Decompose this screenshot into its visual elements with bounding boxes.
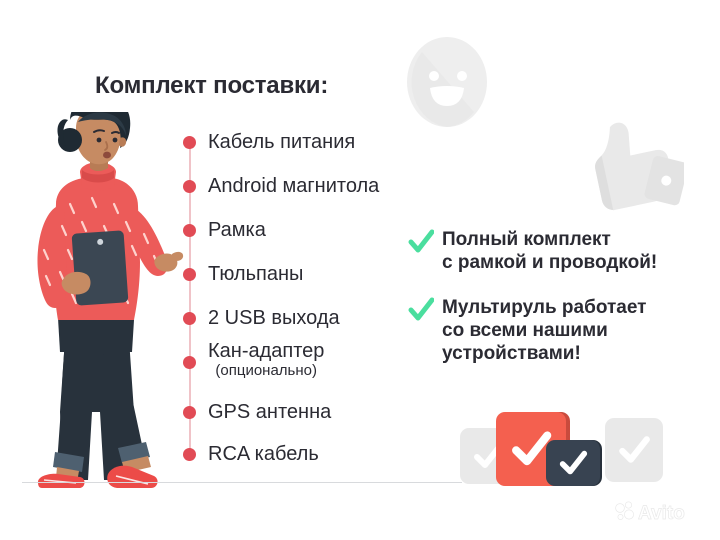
list-item-label: Тюльпаны	[208, 263, 303, 286]
list-item-label: Рамка	[208, 219, 266, 242]
list-item-label: Android магнитола	[208, 175, 379, 198]
benefit-item: Мультируль работает со всеми нашими устр…	[408, 296, 646, 366]
bullet-dot	[183, 180, 196, 193]
avito-watermark: Avito	[612, 498, 708, 526]
page-title: Комплект поставки:	[95, 72, 328, 100]
bullet-dot	[183, 136, 196, 149]
check-icon	[557, 447, 589, 479]
thumbs-up-icon	[574, 112, 684, 216]
avito-wordmark: Avito	[638, 503, 685, 524]
check-icon	[616, 432, 652, 468]
bullet-dot	[183, 448, 196, 461]
checkbox-card-dark	[546, 440, 600, 486]
check-icon	[408, 229, 434, 255]
list-item-label: GPS антенна	[208, 401, 331, 424]
smiley-face-icon	[404, 34, 490, 130]
woman-illustration	[8, 112, 184, 490]
check-icon	[408, 297, 434, 323]
bullet-dot	[183, 312, 196, 325]
list-item-label: Кан-адаптер (опционально)	[208, 340, 324, 379]
benefit-label: Мультируль работает со всеми нашими устр…	[442, 296, 646, 366]
checkbox-cards-decoration	[460, 410, 660, 500]
checkbox-card-gray	[605, 418, 663, 482]
list-item-main-label: Кан-адаптер	[208, 340, 324, 362]
bullet-dot	[183, 268, 196, 281]
bullet-dot	[183, 356, 196, 369]
list-item-label: RCA кабель	[208, 443, 319, 466]
list-item-label: Кабель питания	[208, 131, 355, 154]
list-item-label: 2 USB выхода	[208, 307, 340, 330]
bullet-dot	[183, 224, 196, 237]
benefit-item: Полный комплект с рамкой и проводкой!	[408, 228, 657, 274]
promo-banner: Комплект поставки: Кабель питания Androi…	[0, 0, 720, 540]
benefit-label: Полный комплект с рамкой и проводкой!	[442, 228, 657, 274]
list-item-sub-label: (опционально)	[208, 362, 324, 379]
bullet-dot	[183, 406, 196, 419]
ground-line	[22, 482, 462, 483]
package-contents-list: Кабель питания Android магнитола Рамка Т…	[176, 132, 416, 462]
